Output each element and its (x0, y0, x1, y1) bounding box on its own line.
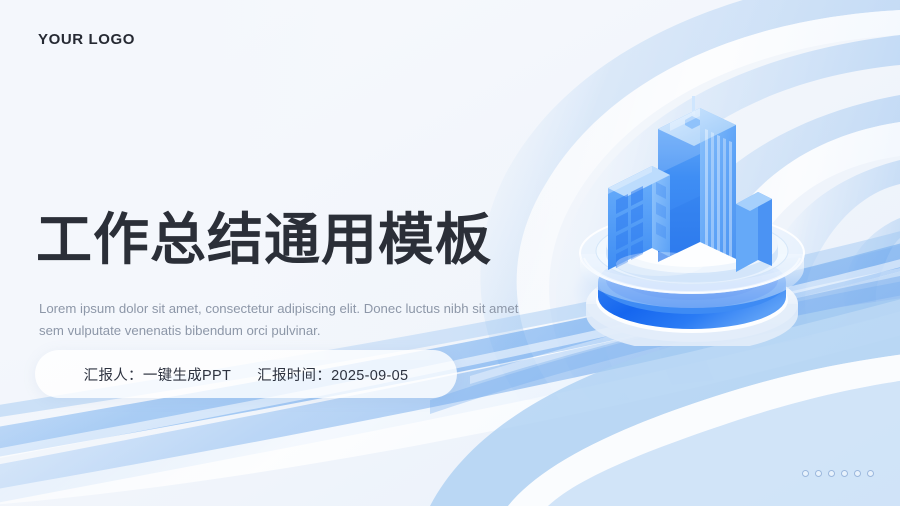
dot-icon (867, 470, 874, 477)
logo-text: YOUR LOGO (38, 31, 135, 48)
presenter-info-pill: 汇报人：一键生成PPT 汇报时间：2025-09-05 (35, 350, 457, 398)
presenter-label: 汇报人：一键生成PPT (84, 364, 232, 385)
dot-icon (854, 470, 861, 477)
side-block (736, 192, 772, 272)
dot-icon (802, 470, 809, 477)
tall-tower-building (658, 96, 772, 272)
dot-icon (841, 470, 848, 477)
page-title: 工作总结通用模板 (36, 210, 492, 270)
report-date-label: 汇报时间：2025-09-05 (257, 364, 408, 385)
subtitle-text: Lorem ipsum dolor sit amet, consectetur … (39, 298, 519, 341)
decorative-dots (802, 470, 874, 477)
dot-icon (828, 470, 835, 477)
dot-icon (815, 470, 822, 477)
city-buildings-illustration (540, 96, 840, 346)
building-window-grid-right (656, 182, 666, 239)
presentation-slide: YOUR LOGO 工作总结通用模板 Lorem ipsum dolor sit… (0, 0, 900, 506)
